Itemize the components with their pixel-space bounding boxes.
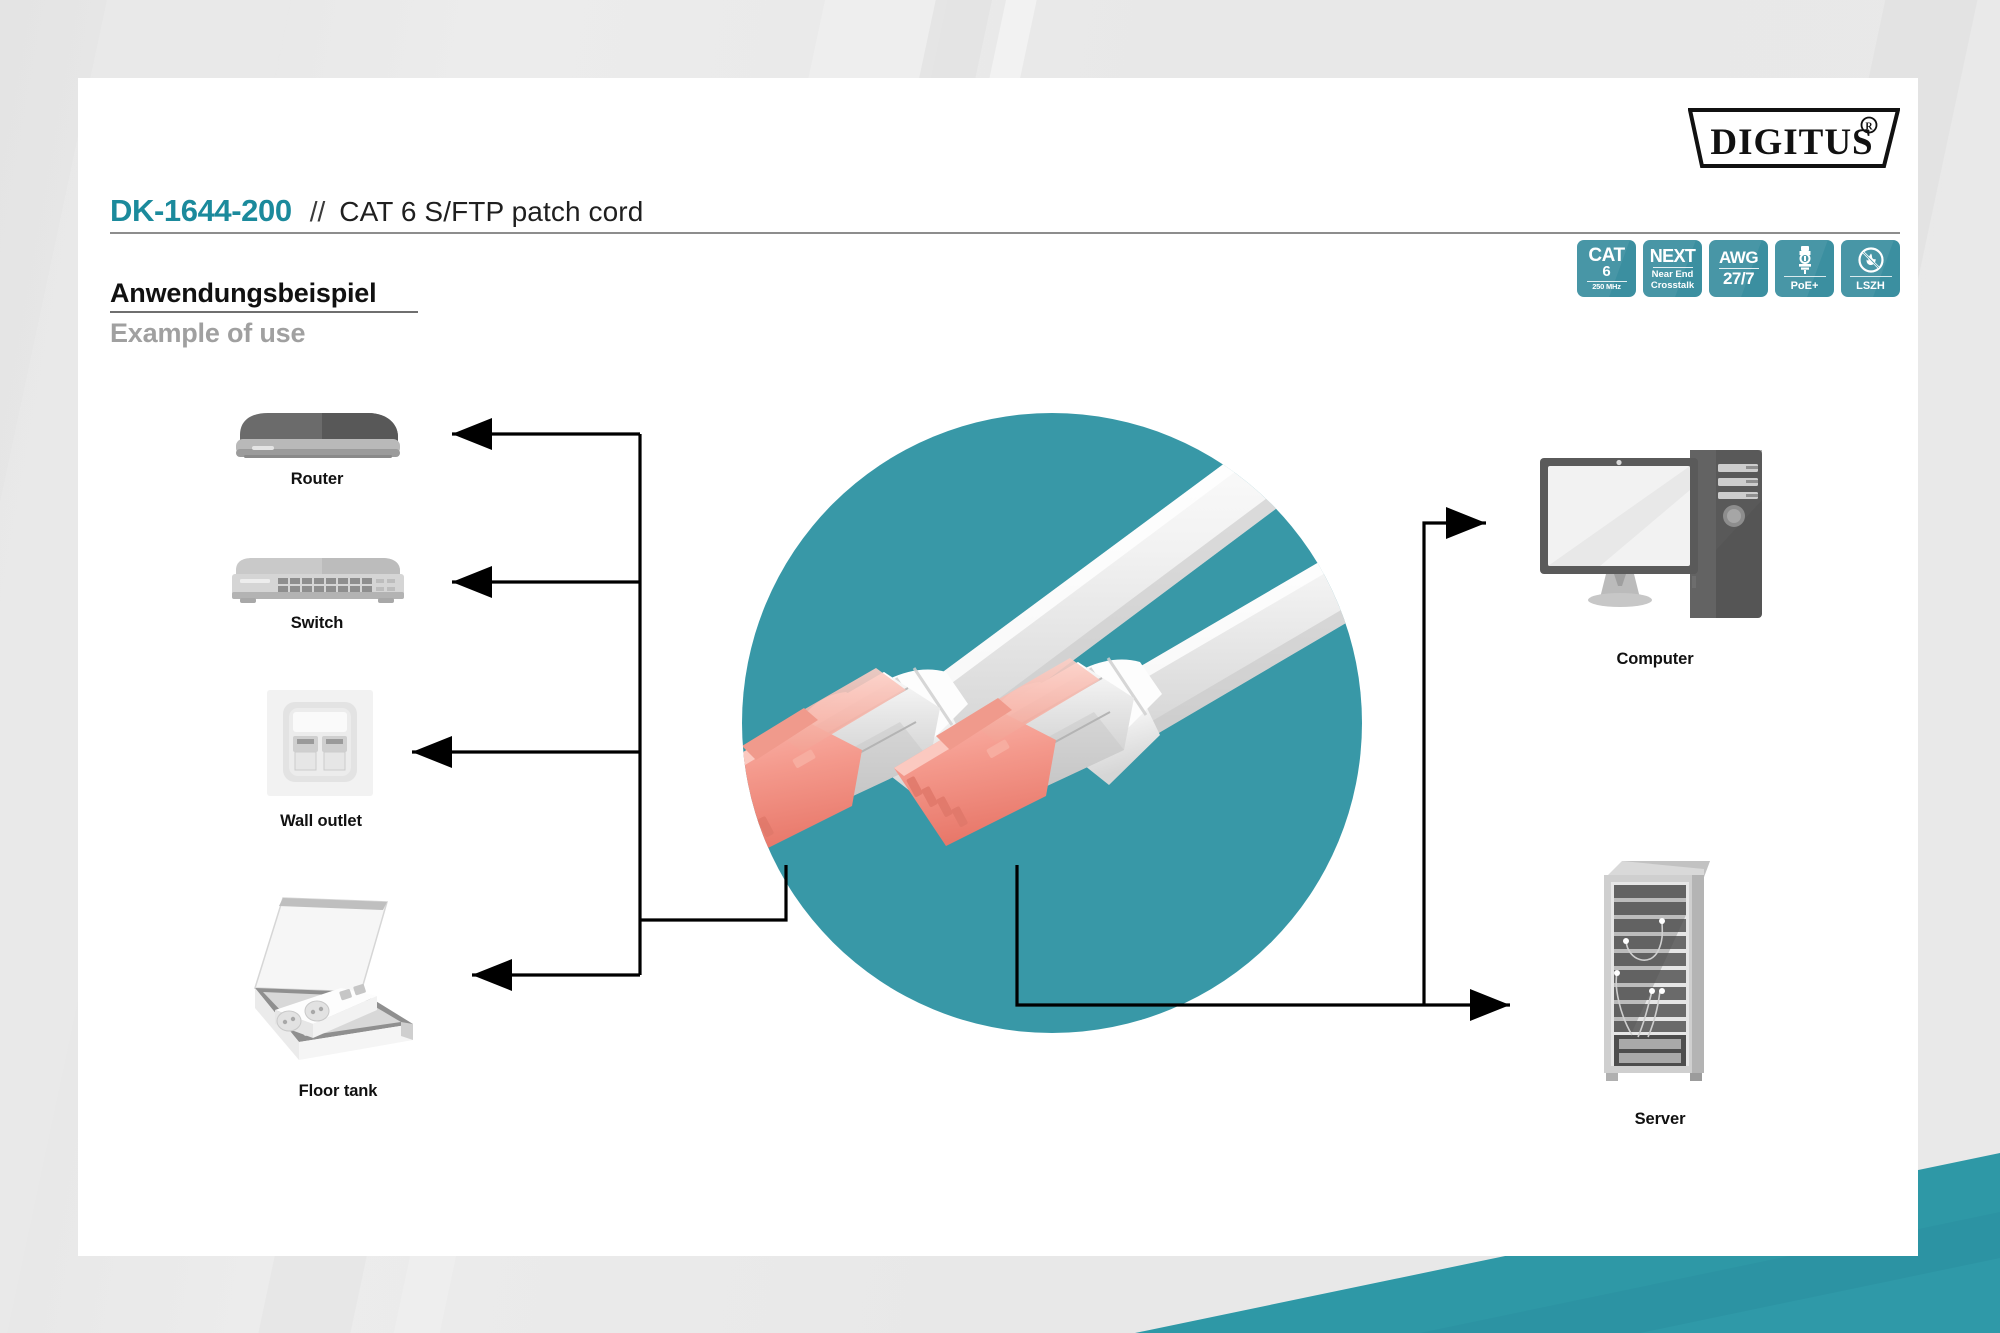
- product-title-row: DK-1644-200 // CAT 6 S/FTP patch cord: [110, 180, 1900, 226]
- device-computer: [1530, 440, 1780, 630]
- device-server: [1592, 855, 1722, 1095]
- badge-next-line2: Near End: [1652, 270, 1694, 280]
- badge-poe: PoE+: [1775, 240, 1834, 297]
- device-label-wall-outlet: Wall outlet: [240, 812, 402, 831]
- feature-badge-row: CAT 6 250 MHz NEXT Near End Crosstalk AW…: [1577, 240, 1900, 297]
- badge-next: NEXT Near End Crosstalk: [1643, 240, 1702, 297]
- device-floor-tank: [235, 888, 435, 1073]
- device-label-computer: Computer: [1565, 650, 1745, 669]
- svg-text:DIGITUS: DIGITUS: [1710, 122, 1873, 163]
- badge-lszh-label: LSZH: [1856, 281, 1885, 292]
- product-sku: DK-1644-200: [110, 195, 292, 226]
- badge-cat6-line2: 6: [1602, 264, 1610, 279]
- badge-poe-label: PoE+: [1791, 281, 1819, 292]
- device-router: [222, 405, 412, 465]
- digitus-logo: DIGITUS R: [1688, 108, 1900, 170]
- product-photo-backdrop: [742, 413, 1362, 1033]
- badge-cat6-line3: 250 MHz: [1592, 283, 1621, 291]
- device-label-server: Server: [1570, 1110, 1750, 1129]
- badge-cat6-line1: CAT: [1588, 247, 1624, 265]
- badge-lszh: LSZH: [1841, 240, 1900, 297]
- section-heading-german: Anwendungsbeispiel: [110, 278, 376, 309]
- badge-awg: AWG 27/7: [1709, 240, 1768, 297]
- badge-awg-line1: AWG: [1719, 249, 1758, 266]
- badge-divider: [1784, 276, 1826, 277]
- section-heading-english: Example of use: [110, 318, 305, 349]
- badge-next-line3: Crosstalk: [1651, 281, 1694, 291]
- device-label-floor-tank: Floor tank: [248, 1082, 428, 1101]
- badge-divider: [1850, 276, 1892, 277]
- title-divider: [110, 232, 1900, 234]
- device-wall-outlet: [265, 688, 375, 798]
- badge-cat6: CAT 6 250 MHz: [1577, 240, 1636, 297]
- badge-next-line1: NEXT: [1650, 247, 1696, 265]
- title-separator: //: [310, 198, 326, 226]
- plug-icon: [1794, 245, 1816, 275]
- svg-text:R: R: [1865, 122, 1873, 133]
- product-name: CAT 6 S/FTP patch cord: [339, 198, 643, 226]
- device-label-router: Router: [222, 470, 412, 489]
- device-label-switch: Switch: [222, 614, 412, 633]
- badge-awg-line2: 27/7: [1723, 270, 1754, 288]
- no-flame-icon: [1857, 245, 1885, 275]
- section-heading-underline: [110, 311, 418, 313]
- device-switch: [222, 548, 412, 608]
- badge-divider: [1653, 267, 1693, 268]
- slide-canvas: DIGITUS R DK-1644-200 // CAT 6 S/FTP pat…: [0, 0, 2000, 1333]
